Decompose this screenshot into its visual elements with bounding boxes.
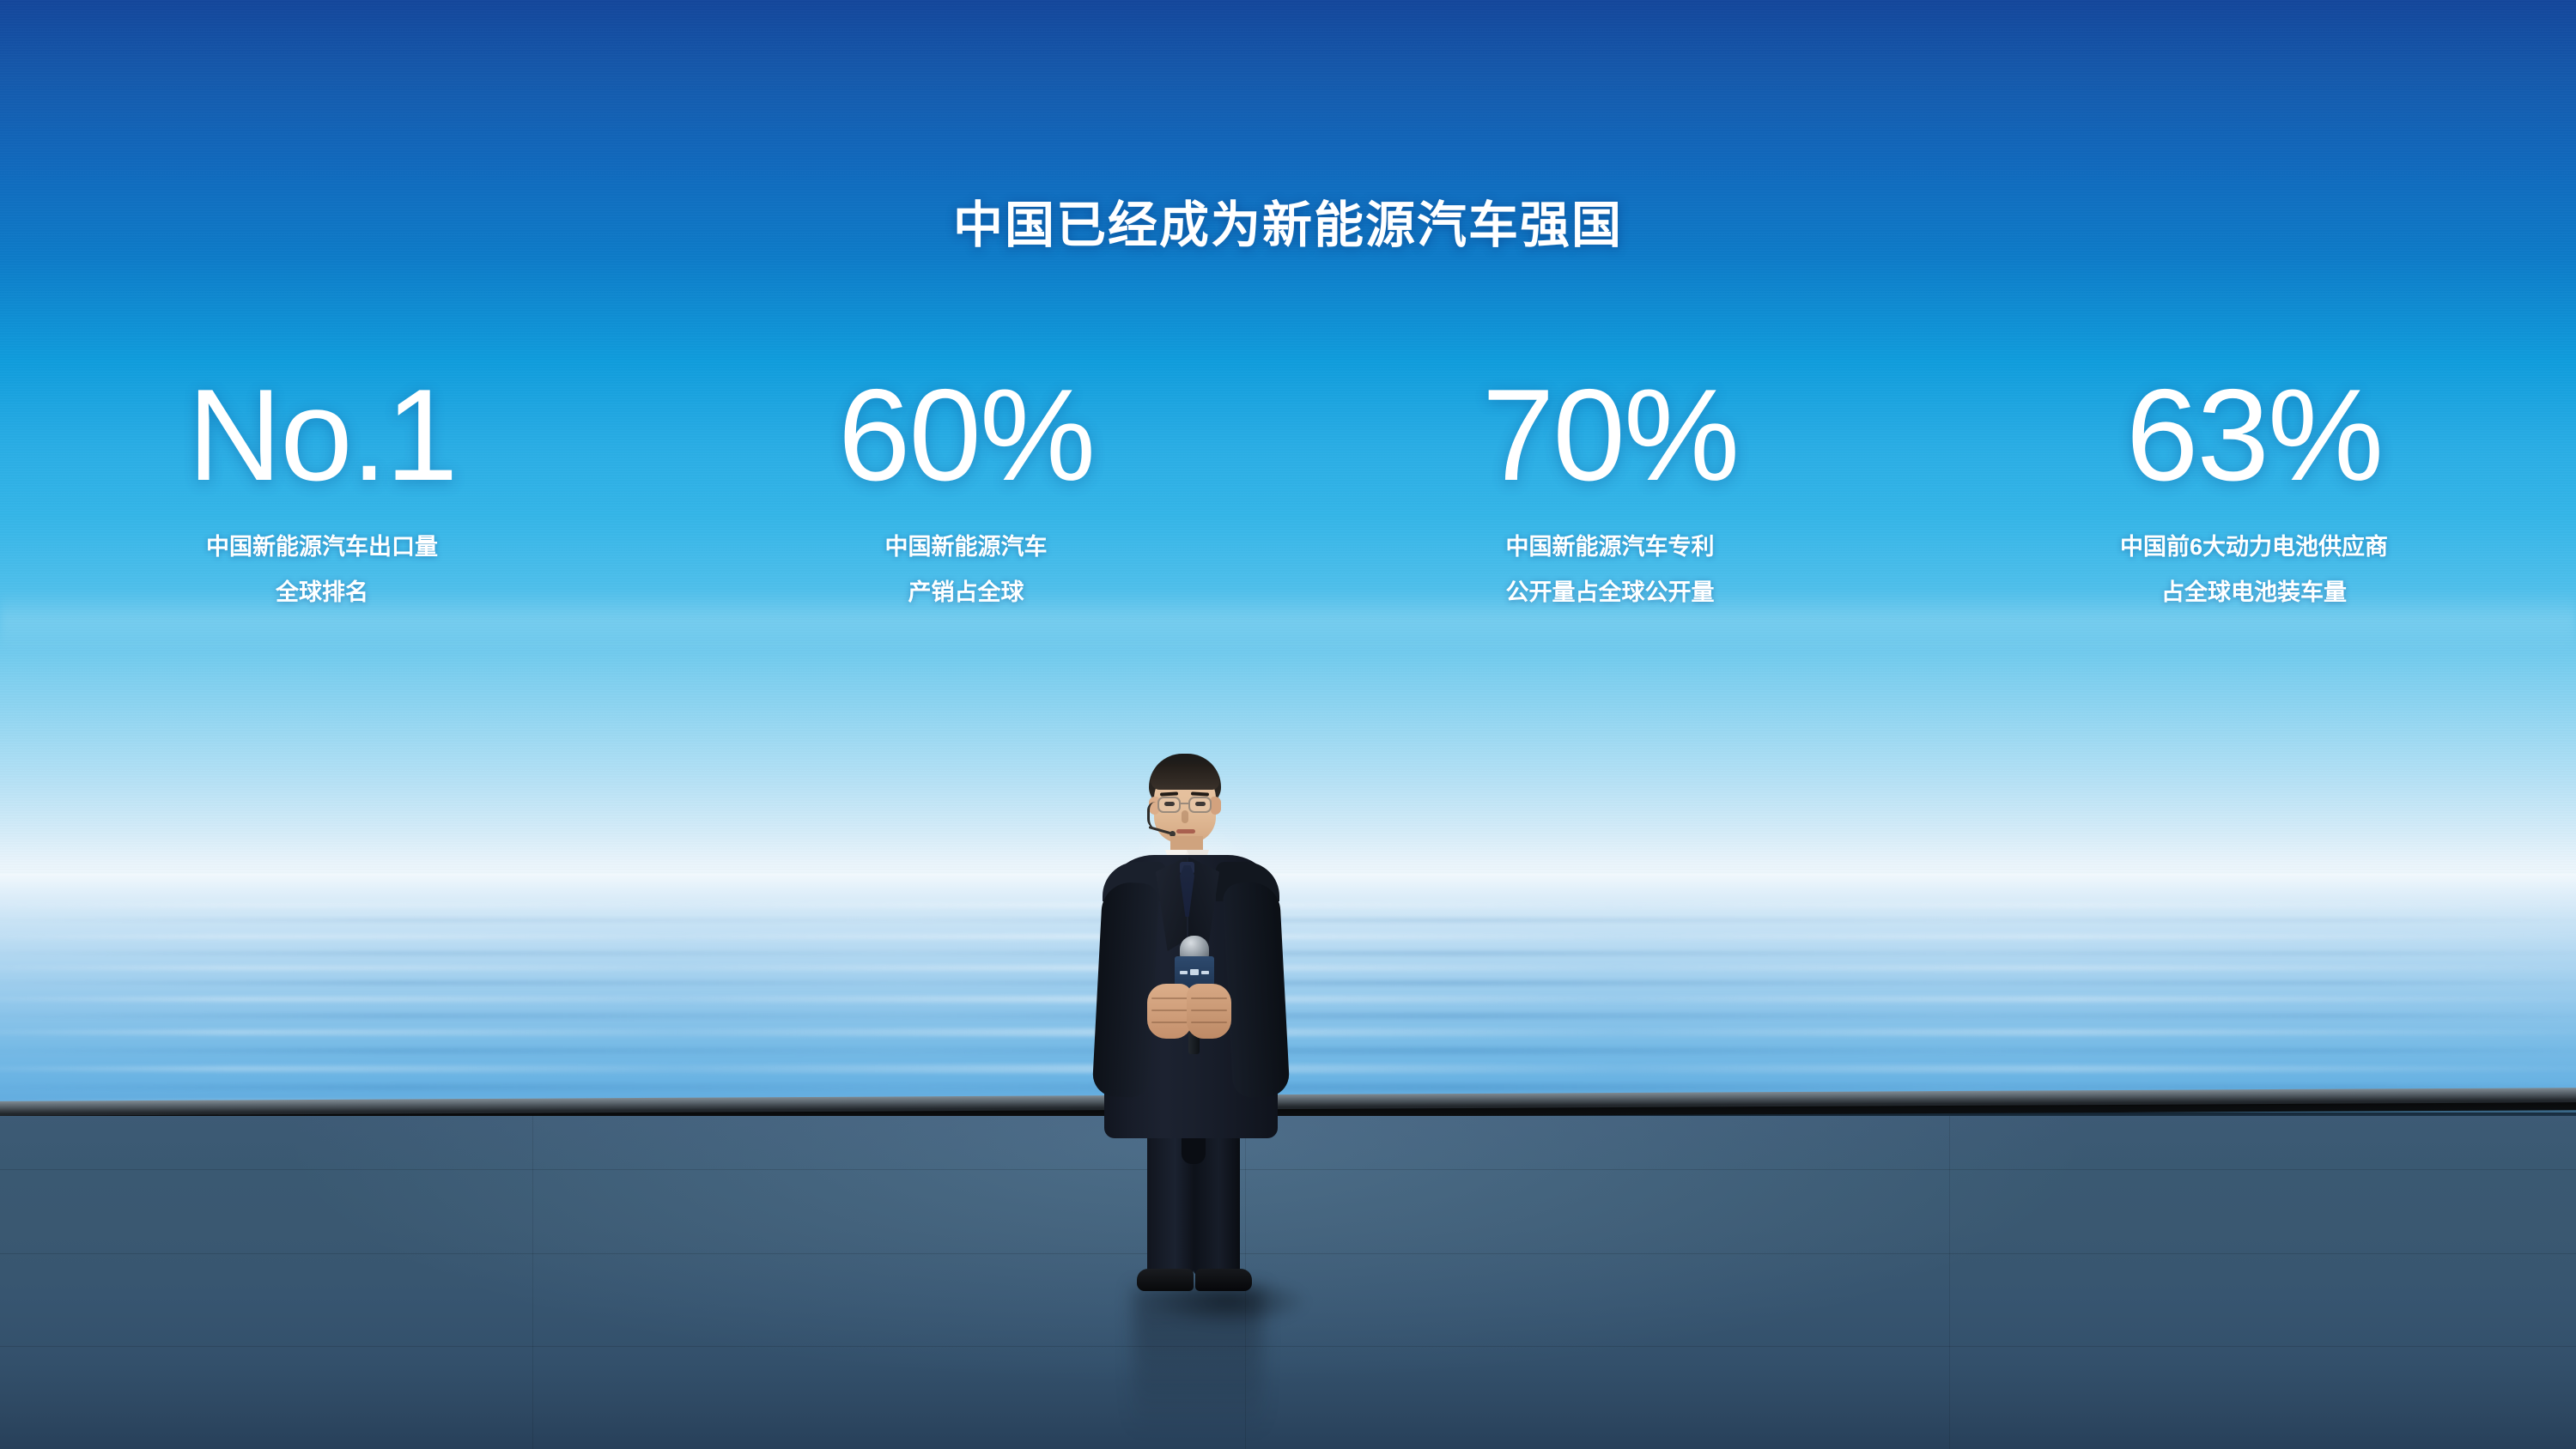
stat-value: No.1 [0,369,644,502]
jacket-sleeve-right [1223,881,1291,1098]
stat-caption-line-2: 公开量占全球公开量 [1288,570,1932,615]
stat-caption-line-1: 中国新能源汽车专利 [1288,524,1932,570]
hand-right [1187,984,1231,1039]
jacket-sleeve-left [1092,881,1160,1098]
hand-left [1147,984,1192,1039]
stat-caption: 中国新能源汽车 产销占全球 [644,524,1288,615]
stat-block-export-rank: No.1 中国新能源汽车出口量 全球排名 [0,369,644,615]
speaker-floor-reflection [1133,1288,1262,1434]
stat-value: 70% [1288,369,1932,502]
stat-block-battery-share: 63% 中国前6大动力电池供应商 占全球电池装车量 [1932,369,2576,615]
stat-caption-line-1: 中国前6大动力电池供应商 [1932,524,2576,570]
eyeglasses-lens-left [1157,797,1181,813]
hair-fringe [1151,764,1219,790]
statistics-row: No.1 中国新能源汽车出口量 全球排名 60% 中国新能源汽车 产销占全球 7… [0,369,2576,615]
slide-title: 中国已经成为新能源汽车强国 [0,185,2576,257]
stat-block-patent-share: 70% 中国新能源汽车专利 公开量占全球公开量 [1288,369,1932,615]
stat-caption: 中国新能源汽车出口量 全球排名 [0,524,644,615]
stat-caption-line-2: 占全球电池装车量 [1932,570,2576,615]
stat-caption-line-2: 产销占全球 [644,570,1288,615]
mouth [1176,829,1195,834]
stat-value: 60% [644,369,1288,502]
keynote-stage-photo: 中国已经成为新能源汽车强国 No.1 中国新能源汽车出口量 全球排名 60% 中… [0,0,2576,1449]
eyeglasses-bridge [1180,803,1189,804]
shoe-right [1195,1269,1252,1291]
ear-right [1211,797,1221,815]
stat-value: 63% [1932,369,2576,502]
stat-caption-line-2: 全球排名 [0,570,644,615]
stat-caption-line-1: 中国新能源汽车 [644,524,1288,570]
eyeglasses-lens-right [1188,797,1212,813]
stat-block-production-share: 60% 中国新能源汽车 产销占全球 [644,369,1288,615]
stat-caption: 中国新能源汽车专利 公开量占全球公开量 [1288,524,1932,615]
nose [1182,810,1188,823]
shoe-left [1137,1269,1194,1291]
speaker-figure [1084,754,1298,1290]
stat-caption: 中国前6大动力电池供应商 占全球电池装车量 [1932,524,2576,615]
stat-caption-line-1: 中国新能源汽车出口量 [0,524,644,570]
